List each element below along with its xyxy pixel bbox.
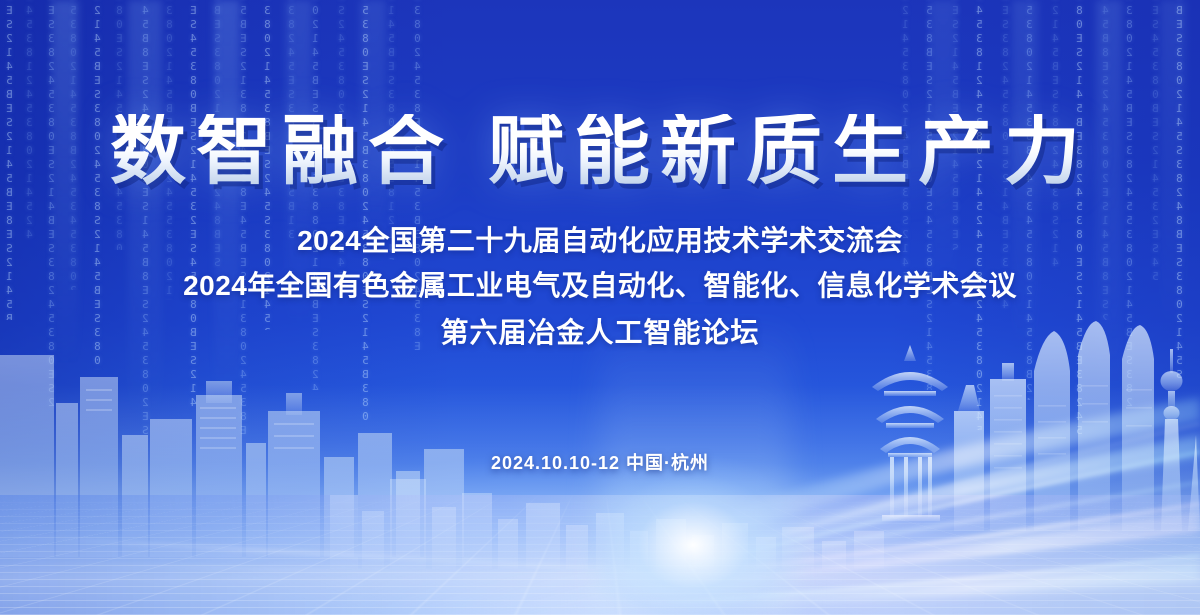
background-right-tint	[0, 0, 1200, 615]
conference-banner: 8ES2145BES2145BE8ES2145BES21245381245380…	[0, 0, 1200, 615]
